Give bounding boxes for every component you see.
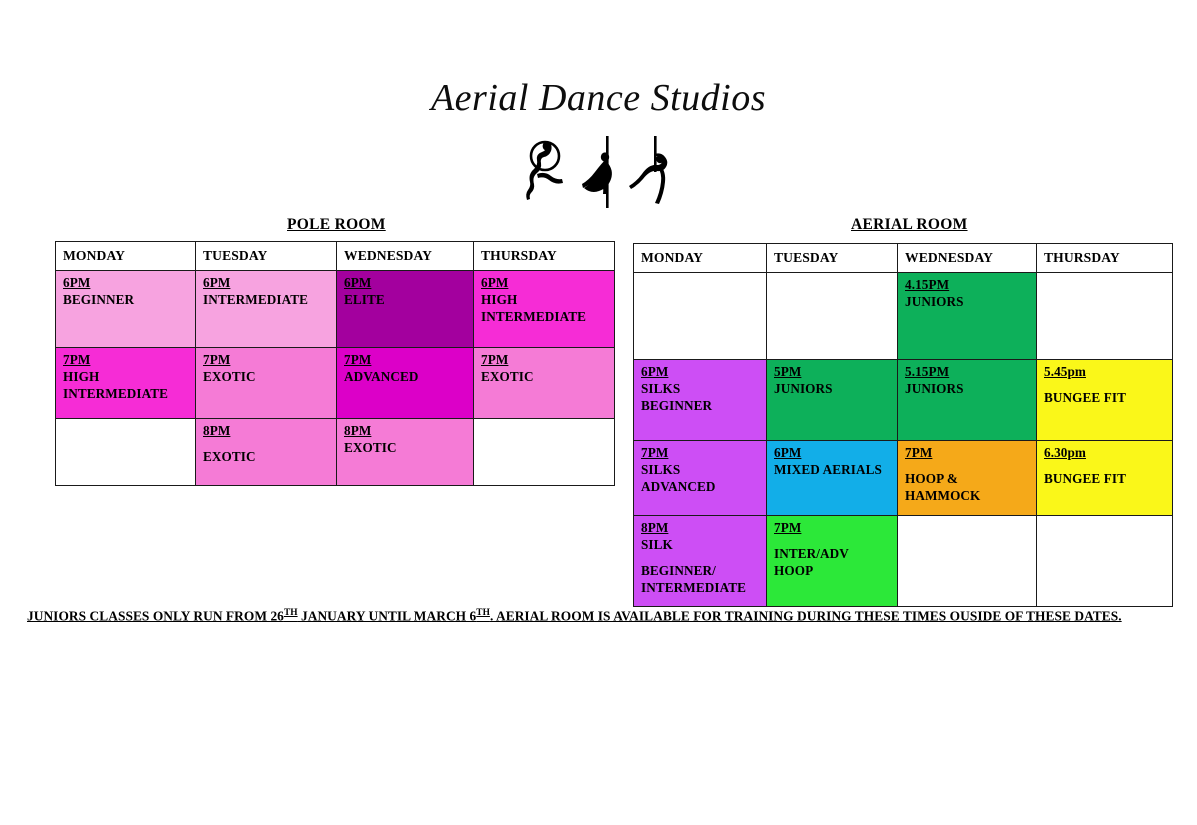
class-name: MIXED AERIALS [774,462,891,479]
class-name: BUNGEE FIT [1044,471,1166,488]
class-cell-empty[interactable] [1037,273,1173,360]
class-cell[interactable]: 5PM JUNIORS [767,360,898,441]
class-cell[interactable]: 5.15PM JUNIORS [898,360,1037,441]
note-part-3: . AERIAL ROOM IS AVAILABLE FOR TRAINING … [490,608,1122,623]
class-cell[interactable]: 7PM ADVANCED [337,348,474,419]
class-cell[interactable]: 4.15PM JUNIORS [898,273,1037,360]
class-time: 6PM [344,275,467,292]
class-name: JUNIORS [774,381,891,398]
class-time: 7PM [63,352,189,369]
class-name: SILKS ADVANCED [641,462,760,496]
class-name-secondary: BEGINNER/ INTERMEDIATE [641,563,760,597]
table-row: 7PM SILKS ADVANCED 6PM MIXED AERIALS 7PM… [634,441,1173,516]
class-cell-empty[interactable] [56,419,196,486]
class-name: EXOTIC [481,369,608,386]
class-cell[interactable]: 6PM HIGH INTERMEDIATE [474,271,615,348]
class-cell[interactable]: 7PM HIGH INTERMEDIATE [56,348,196,419]
class-cell[interactable]: 7PM INTER/ADV HOOP [767,516,898,607]
class-name: HIGH INTERMEDIATE [63,369,189,403]
table-row: 8PM SILK BEGINNER/ INTERMEDIATE 7PM INTE… [634,516,1173,607]
pole-col-thursday: THURSDAY [474,242,615,271]
title-block: Aerial Dance Studios [0,78,1197,208]
class-cell[interactable]: 8PM EXOTIC [337,419,474,486]
class-time: 6PM [774,445,891,462]
aerial-col-thursday: THURSDAY [1037,244,1173,273]
class-name: SILK [641,537,760,554]
class-cell[interactable]: 8PM EXOTIC [196,419,337,486]
class-time: 5.45pm [1044,364,1166,381]
class-time: 8PM [641,520,760,537]
class-name: JUNIORS [905,381,1030,398]
class-time: 6PM [481,275,608,292]
class-cell[interactable]: 7PM HOOP & HAMMOCK [898,441,1037,516]
pole-col-tuesday: TUESDAY [196,242,337,271]
class-time: 7PM [481,352,608,369]
note-ordinal-1: TH [284,608,298,618]
juniors-schedule-note: JUNIORS CLASSES ONLY RUN FROM 26TH JANUA… [27,608,1147,624]
aerial-room-heading: AERIAL ROOM [851,216,968,234]
class-time: 6PM [641,364,760,381]
class-cell-empty[interactable] [474,419,615,486]
class-cell[interactable]: 5.45pm BUNGEE FIT [1037,360,1173,441]
class-time: 4.15PM [905,277,1030,294]
class-name: JUNIORS [905,294,1030,311]
class-name: HOOP & HAMMOCK [905,471,1030,505]
class-name: SILKS BEGINNER [641,381,760,415]
class-name: INTER/ADV HOOP [774,546,891,580]
class-name: BEGINNER [63,292,189,309]
class-time: 8PM [203,423,330,440]
class-cell[interactable]: 6PM MIXED AERIALS [767,441,898,516]
class-cell-empty[interactable] [1037,516,1173,607]
class-time: 7PM [905,445,1030,462]
aerial-room-table: MONDAY TUESDAY WEDNESDAY THURSDAY 4.15PM… [633,243,1173,607]
class-name: HIGH INTERMEDIATE [481,292,608,326]
note-part-2: JANUARY UNTIL MARCH 6 [298,608,477,623]
note-part-1: JUNIORS CLASSES ONLY RUN FROM 26 [27,608,284,623]
aerial-col-tuesday: TUESDAY [767,244,898,273]
class-name: EXOTIC [344,440,467,457]
class-time: 7PM [344,352,467,369]
page-title: Aerial Dance Studios [0,78,1197,120]
class-time: 8PM [344,423,467,440]
table-row: 4.15PM JUNIORS [634,273,1173,360]
table-row: 8PM EXOTIC 8PM EXOTIC [56,419,615,486]
pole-dancer-silhouettes-icon [0,132,1197,208]
class-cell[interactable]: 7PM EXOTIC [196,348,337,419]
class-cell-empty[interactable] [898,516,1037,607]
class-cell[interactable]: 6PM SILKS BEGINNER [634,360,767,441]
table-row: 7PM HIGH INTERMEDIATE 7PM EXOTIC 7PM ADV… [56,348,615,419]
class-time: 5PM [774,364,891,381]
class-name: ELITE [344,292,467,309]
class-time: 7PM [203,352,330,369]
class-time: 5.15PM [905,364,1030,381]
pole-header-row: MONDAY TUESDAY WEDNESDAY THURSDAY [56,242,615,271]
class-name: INTERMEDIATE [203,292,330,309]
class-cell[interactable]: 6PM ELITE [337,271,474,348]
class-cell[interactable]: 7PM EXOTIC [474,348,615,419]
pole-room-table: MONDAY TUESDAY WEDNESDAY THURSDAY 6PM BE… [55,241,615,486]
class-name: EXOTIC [203,369,330,386]
table-row: 6PM BEGINNER 6PM INTERMEDIATE 6PM ELITE … [56,271,615,348]
aerial-col-monday: MONDAY [634,244,767,273]
class-name: BUNGEE FIT [1044,390,1166,407]
class-time: 6.30pm [1044,445,1166,462]
note-ordinal-2: TH [476,608,490,618]
class-time: 7PM [641,445,760,462]
class-cell[interactable]: 6PM INTERMEDIATE [196,271,337,348]
class-cell[interactable]: 6PM BEGINNER [56,271,196,348]
aerial-header-row: MONDAY TUESDAY WEDNESDAY THURSDAY [634,244,1173,273]
class-cell[interactable]: 6.30pm BUNGEE FIT [1037,441,1173,516]
class-time: 7PM [774,520,891,537]
aerial-col-wednesday: WEDNESDAY [898,244,1037,273]
pole-room-heading: POLE ROOM [287,216,386,234]
class-name: EXOTIC [203,449,330,466]
pole-col-wednesday: WEDNESDAY [337,242,474,271]
table-row: 6PM SILKS BEGINNER 5PM JUNIORS 5.15PM JU… [634,360,1173,441]
class-time: 6PM [203,275,330,292]
pole-col-monday: MONDAY [56,242,196,271]
class-cell[interactable]: 8PM SILK BEGINNER/ INTERMEDIATE [634,516,767,607]
class-cell-empty[interactable] [634,273,767,360]
class-cell[interactable]: 7PM SILKS ADVANCED [634,441,767,516]
class-cell-empty[interactable] [767,273,898,360]
class-time: 6PM [63,275,189,292]
class-name: ADVANCED [344,369,467,386]
